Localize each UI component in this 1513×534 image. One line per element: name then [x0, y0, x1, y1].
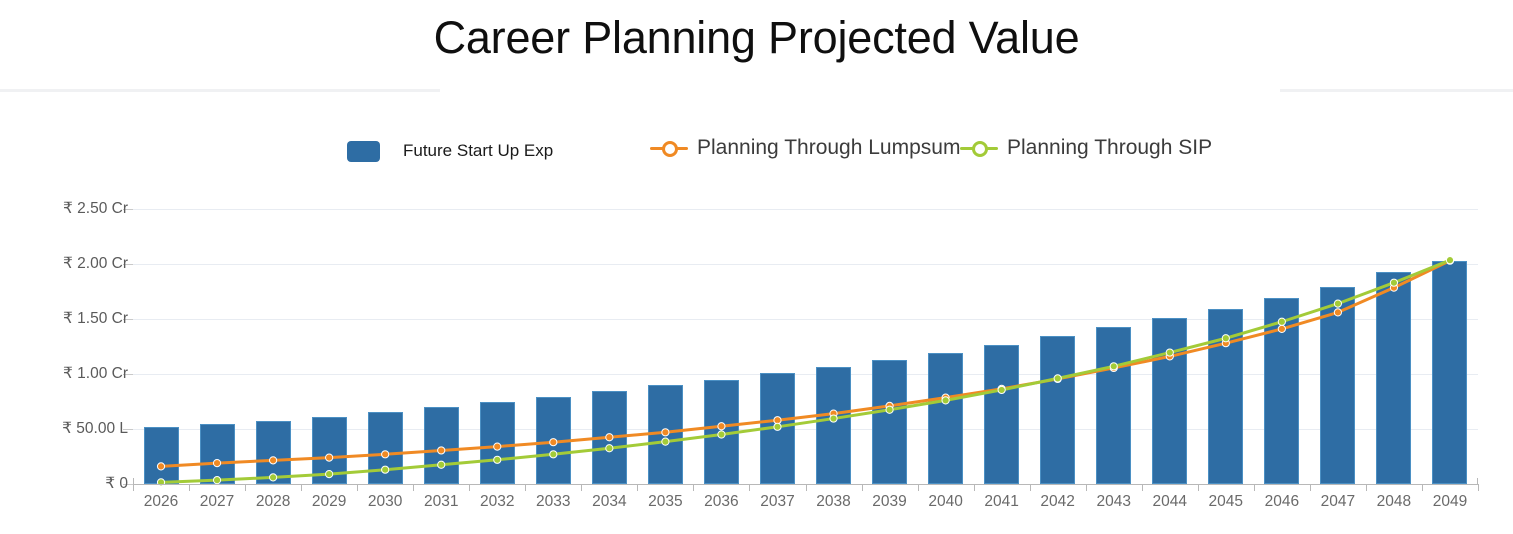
- x-tick-label: 2039: [862, 493, 918, 511]
- x-tick-mark: [1030, 484, 1031, 491]
- data-point-marker[interactable]: [1110, 363, 1117, 370]
- x-tick-mark: [413, 484, 414, 491]
- x-tick-label: 2043: [1086, 493, 1142, 511]
- x-tick-label: 2026: [133, 493, 189, 511]
- data-point-marker[interactable]: [606, 434, 613, 441]
- x-tick-label: 2040: [918, 493, 974, 511]
- data-point-marker[interactable]: [550, 439, 557, 446]
- data-point-marker[interactable]: [1334, 309, 1341, 316]
- chart-card: Career Planning Projected Value Future S…: [0, 0, 1513, 534]
- data-point-marker[interactable]: [886, 406, 893, 413]
- data-point-marker[interactable]: [157, 463, 164, 470]
- x-tick-mark: [918, 484, 919, 491]
- line-series-group: [0, 0, 1513, 534]
- data-point-marker[interactable]: [1166, 349, 1173, 356]
- x-tick-mark: [1254, 484, 1255, 491]
- x-tick-label: 2041: [974, 493, 1030, 511]
- data-point-marker[interactable]: [606, 445, 613, 452]
- line-path-planning-through-sip: [161, 260, 1450, 482]
- data-point-marker[interactable]: [326, 454, 333, 461]
- x-tick-mark: [189, 484, 190, 491]
- x-tick-mark: [133, 484, 134, 491]
- x-tick-label: 2032: [469, 493, 525, 511]
- x-tick-label: 2036: [693, 493, 749, 511]
- x-tick-mark: [693, 484, 694, 491]
- x-tick-mark: [1310, 484, 1311, 491]
- x-tick-label: 2027: [189, 493, 245, 511]
- data-point-marker[interactable]: [1222, 335, 1229, 342]
- data-point-marker[interactable]: [662, 429, 669, 436]
- x-tick-label: 2048: [1366, 493, 1422, 511]
- x-tick-mark: [806, 484, 807, 491]
- data-point-marker[interactable]: [550, 451, 557, 458]
- data-point-marker[interactable]: [1278, 325, 1285, 332]
- x-tick-label: 2035: [637, 493, 693, 511]
- data-point-marker[interactable]: [382, 451, 389, 458]
- x-tick-label: 2044: [1142, 493, 1198, 511]
- data-point-marker[interactable]: [718, 423, 725, 430]
- x-tick-mark: [301, 484, 302, 491]
- x-tick-mark: [1142, 484, 1143, 491]
- x-tick-mark: [974, 484, 975, 491]
- x-tick-label: 2028: [245, 493, 301, 511]
- data-point-marker[interactable]: [270, 457, 277, 464]
- x-tick-mark: [1198, 484, 1199, 491]
- data-point-marker[interactable]: [662, 438, 669, 445]
- data-point-marker[interactable]: [494, 443, 501, 450]
- x-tick-label: 2033: [525, 493, 581, 511]
- data-point-marker[interactable]: [1334, 300, 1341, 307]
- x-tick-mark: [469, 484, 470, 491]
- x-tick-mark: [1478, 484, 1479, 491]
- x-tick-label: 2038: [806, 493, 862, 511]
- x-tick-mark: [357, 484, 358, 491]
- x-tick-mark: [749, 484, 750, 491]
- data-point-marker[interactable]: [830, 415, 837, 422]
- x-tick-label: 2049: [1422, 493, 1478, 511]
- data-point-marker[interactable]: [213, 460, 220, 467]
- data-point-marker[interactable]: [942, 397, 949, 404]
- x-tick-label: 2046: [1254, 493, 1310, 511]
- x-tick-label: 2029: [301, 493, 357, 511]
- data-point-marker[interactable]: [438, 461, 445, 468]
- data-point-marker[interactable]: [718, 431, 725, 438]
- data-point-marker[interactable]: [270, 474, 277, 481]
- x-tick-mark: [1422, 484, 1423, 491]
- data-point-marker[interactable]: [494, 456, 501, 463]
- data-point-marker[interactable]: [213, 477, 220, 484]
- x-tick-mark: [245, 484, 246, 491]
- x-tick-mark: [525, 484, 526, 491]
- data-point-marker[interactable]: [382, 466, 389, 473]
- data-point-marker[interactable]: [326, 471, 333, 478]
- data-point-marker[interactable]: [774, 423, 781, 430]
- x-tick-label: 2042: [1030, 493, 1086, 511]
- data-point-marker[interactable]: [1390, 279, 1397, 286]
- x-tick-mark: [1366, 484, 1367, 491]
- x-tick-mark: [581, 484, 582, 491]
- line-path-planning-through-lumpsum: [161, 261, 1450, 467]
- x-tick-label: 2045: [1198, 493, 1254, 511]
- x-tick-mark: [862, 484, 863, 491]
- data-point-marker[interactable]: [438, 447, 445, 454]
- x-tick-label: 2047: [1310, 493, 1366, 511]
- x-tick-label: 2030: [357, 493, 413, 511]
- data-point-marker[interactable]: [1446, 257, 1453, 264]
- data-point-marker[interactable]: [1278, 318, 1285, 325]
- x-tick-mark: [1086, 484, 1087, 491]
- x-tick-label: 2031: [413, 493, 469, 511]
- x-tick-label: 2037: [749, 493, 805, 511]
- plot-area: ₹ 2.50 Cr₹ 2.00 Cr₹ 1.50 Cr₹ 1.00 Cr₹ 50…: [0, 0, 1513, 534]
- data-point-marker[interactable]: [998, 386, 1005, 393]
- x-tick-mark: [637, 484, 638, 491]
- x-tick-label: 2034: [581, 493, 637, 511]
- data-point-marker[interactable]: [1054, 375, 1061, 382]
